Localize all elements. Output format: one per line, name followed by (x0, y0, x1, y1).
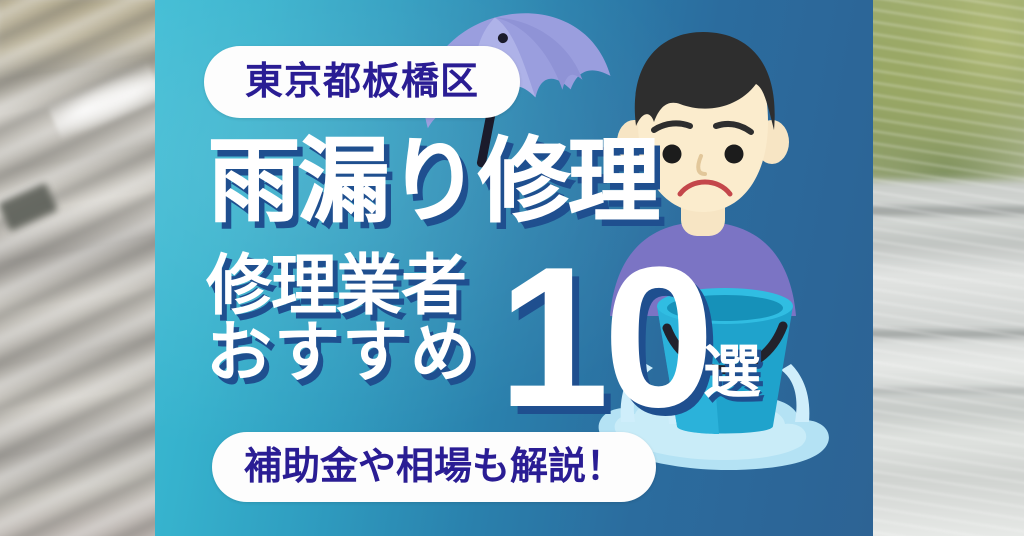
subheading-block: 修理業者 おすすめ 10 選 (206, 252, 776, 422)
subheading-line-2: おすすめ (206, 319, 506, 386)
region-badge-label: 東京都板橋区 (245, 63, 479, 101)
region-badge: 東京都板橋区 (204, 46, 520, 118)
banner-root: 東京都板橋区 雨漏り修理 修理業者 おすすめ 10 選 補助金や相場も解説！ (0, 0, 1024, 536)
page-title: 雨漏り修理 (208, 136, 658, 228)
count-number: 10 (498, 238, 708, 438)
count-suffix: 選 (703, 344, 761, 402)
subtitle-badge: 補助金や相場も解説！ (212, 432, 656, 502)
subtitle-badge-label: 補助金や相場も解説！ (244, 448, 624, 486)
subheading-lines: 修理業者 おすすめ (206, 252, 506, 387)
subheading-line-1: 修理業者 (206, 252, 506, 319)
